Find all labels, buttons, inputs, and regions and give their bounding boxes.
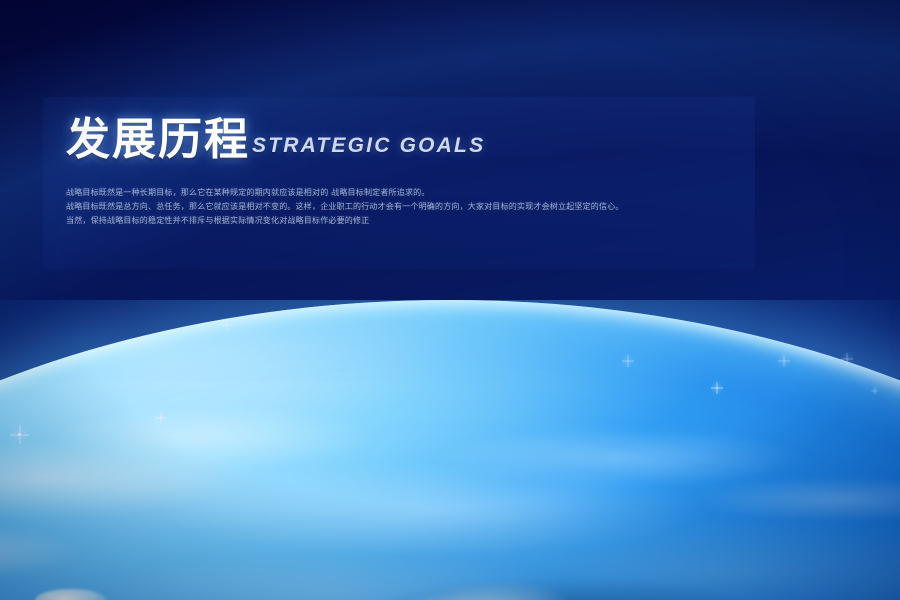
body-copy-line: 战略目标既然是总方向、总任务，那么它就应该是相对不变的。这样，企业职工的行动才会… [66, 200, 726, 214]
banner-headline: 发展历程 STRATEGIC GOALS [66, 118, 485, 162]
banner-body-copy: 战略目标既然是一种长期目标，那么它在某种规定的期内就应该是相对的 战略目标制定者… [66, 186, 726, 228]
space-background [0, 0, 900, 600]
body-copy-line: 当然，保持战略目标的稳定性并不排斥与根据实际情况变化对战略目标作必要的修正 [66, 214, 726, 228]
banner-stage: 发展历程 STRATEGIC GOALS 战略目标既然是一种长期目标，那么它在某… [0, 0, 900, 600]
body-copy-line: 战略目标既然是一种长期目标，那么它在某种规定的期内就应该是相对的 战略目标制定者… [66, 186, 726, 200]
headline-english-subtitle: STRATEGIC GOALS [252, 135, 485, 156]
headline-chinese: 发展历程 [66, 118, 250, 162]
